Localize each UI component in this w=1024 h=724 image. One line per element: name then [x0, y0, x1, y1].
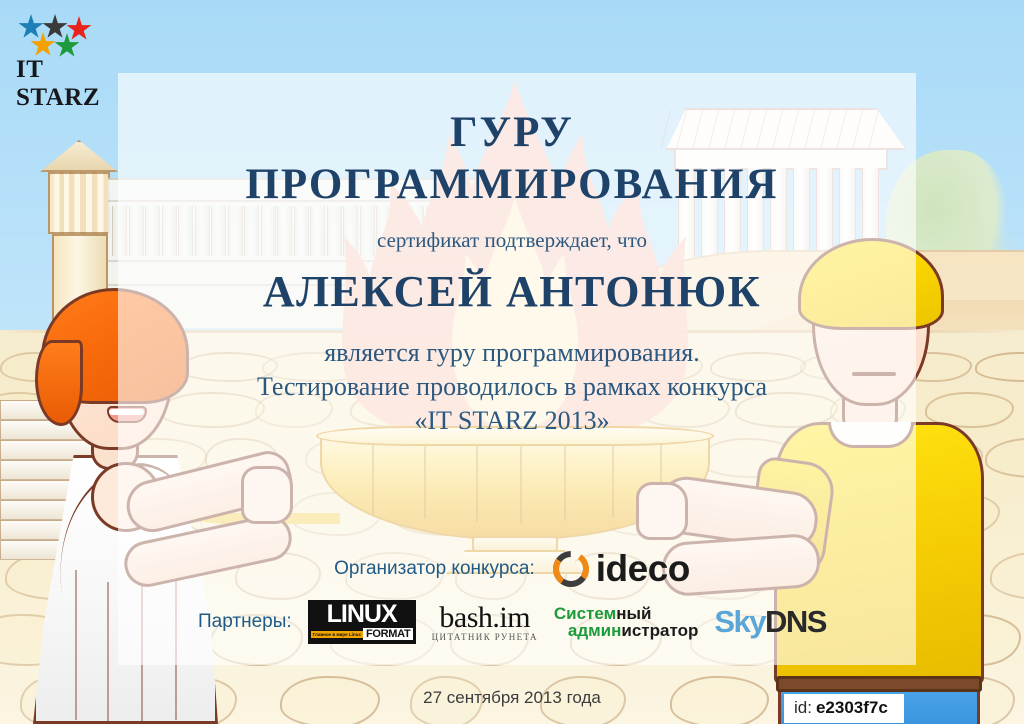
certificate-body-line1: является гуру программирования.	[0, 338, 1024, 368]
certificate-title-line1: ГУРУ	[0, 108, 1024, 157]
linux-format-top: LINUX	[311, 602, 413, 627]
skydns-logo: SkyDNS	[714, 604, 826, 640]
partners-label: Партнеры:	[198, 611, 292, 633]
skydns-first: Sky	[714, 604, 765, 639]
bash-im-logo: bash.im ЦИТАТНИК РУНЕТА	[432, 603, 538, 642]
certificate-body-line2: Тестирование проводилось в рамках конкур…	[0, 372, 1024, 402]
ideco-swirl-icon	[553, 551, 589, 587]
certificate-content: ГУРУ ПРОГРАММИРОВАНИЯ сертификат подтвер…	[0, 0, 1024, 724]
certificate-canvas: IT STARZ ГУРУ ПРОГРАММИРОВАНИЯ сертифика…	[0, 0, 1024, 724]
id-value: e2303f7c	[816, 698, 888, 717]
certificate-id-badge: id:e2303f7c	[784, 694, 904, 723]
sysadmin-row2-green: админ	[568, 621, 622, 640]
bash-im-tagline: ЦИТАТНИК РУНЕТА	[432, 632, 538, 642]
partners-row: Партнеры: LINUX Главное в мире Linux FOR…	[0, 600, 1024, 644]
organizer-label: Организатор конкурса:	[334, 558, 535, 580]
skydns-second: DNS	[765, 604, 826, 639]
sysadmin-row2-black: истратор	[621, 621, 698, 640]
recipient-name: АЛЕКСЕЙ АНТОНЮК	[0, 266, 1024, 317]
certificate-body-line3: «IT STARZ 2013»	[0, 406, 1024, 436]
certificate-title-line2: ПРОГРАММИРОВАНИЯ	[0, 160, 1024, 209]
ideco-logo: ideco	[553, 548, 690, 590]
linux-format-logo: LINUX Главное в мире Linux FORMAT	[308, 600, 416, 644]
certificate-subtitle: сертификат подтверждает, что	[0, 228, 1024, 253]
bash-im-wordmark: bash.im	[439, 603, 530, 633]
linux-format-bottom: FORMAT	[363, 628, 413, 640]
id-label: id:	[794, 698, 812, 717]
ideco-wordmark: ideco	[596, 548, 690, 590]
linux-format-tagline: Главное в мире Linux	[311, 631, 363, 638]
organizer-row: Организатор конкурса: ideco	[0, 548, 1024, 590]
sistemny-administrator-logo: Системный администратор	[554, 605, 699, 639]
